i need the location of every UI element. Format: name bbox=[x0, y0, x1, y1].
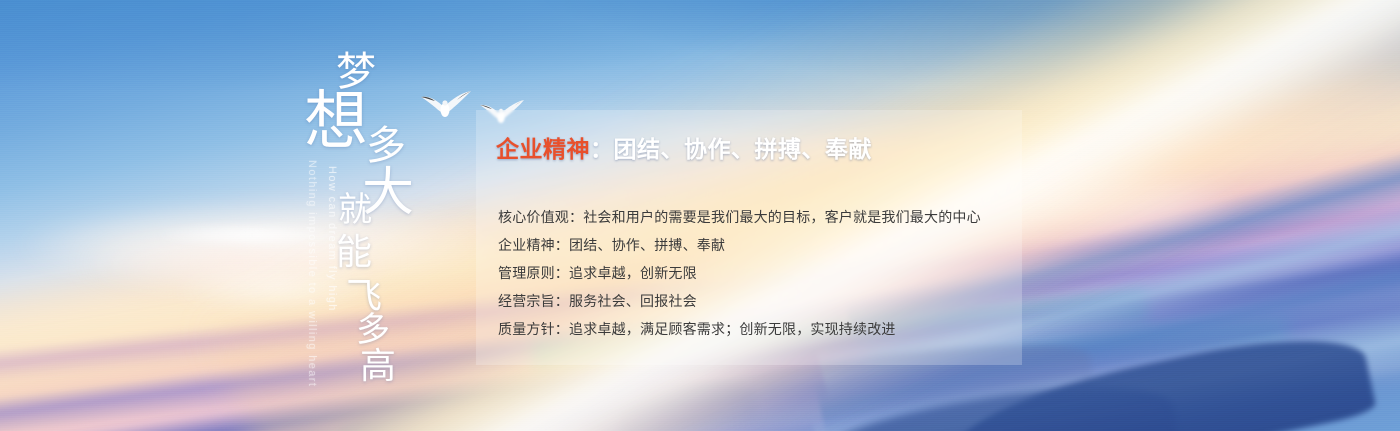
calligraphy-slogan: 梦 想 多 大 就 能 飞 多 高 How can dream fly high… bbox=[300, 38, 430, 398]
statement-core-values: 核心价值观：社会和用户的需要是我们最大的目标，客户就是我们最大的中心 bbox=[498, 203, 1018, 231]
headline-emphasis: 企业精神 bbox=[496, 136, 590, 162]
calligraphy-char-fei: 飞 bbox=[346, 278, 382, 314]
calligraphy-english-line-2: Nothing impossible to a willing heart bbox=[306, 160, 318, 387]
headline-rest: ：团结、协作、拼搏、奉献 bbox=[590, 136, 872, 162]
calligraphy-char-duo: 多 bbox=[366, 126, 406, 166]
headline: 企业精神：团结、协作、拼搏、奉献 bbox=[496, 130, 872, 164]
calligraphy-char-xiang: 想 bbox=[304, 90, 368, 154]
banner-canvas: 梦 想 多 大 就 能 飞 多 高 How can dream fly high… bbox=[0, 0, 1400, 431]
calligraphy-char-neng: 能 bbox=[336, 234, 372, 270]
statement-management-policy: 管理原则：追求卓越，创新无限 bbox=[498, 259, 1018, 287]
calligraphy-english-line-1: How can dream fly high bbox=[326, 166, 338, 312]
calligraphy-char-duo-2: 多 bbox=[356, 314, 390, 348]
calligraphy-char-jiu: 就 bbox=[338, 194, 372, 228]
statement-company-spirit: 企业精神：团结、协作、拼搏、奉献 bbox=[498, 231, 1018, 259]
statement-business-purpose: 经营宗旨：服务社会、回报社会 bbox=[498, 287, 1018, 315]
statement-list: 核心价值观：社会和用户的需要是我们最大的目标，客户就是我们最大的中心 企业精神：… bbox=[498, 203, 1018, 343]
calligraphy-char-gao: 高 bbox=[360, 348, 396, 384]
statement-quality-policy: 质量方针：追求卓越，满足顾客需求；创新无限，实现持续改进 bbox=[498, 315, 1018, 343]
